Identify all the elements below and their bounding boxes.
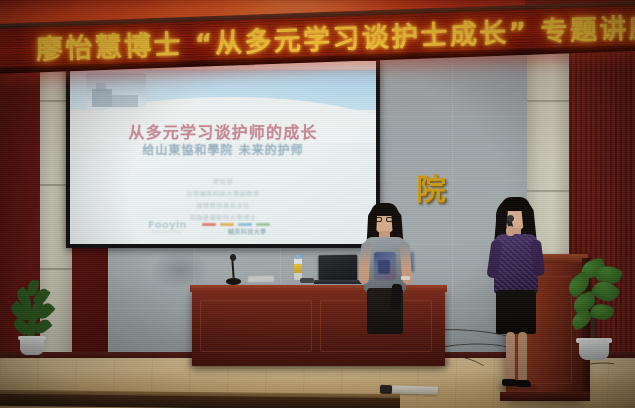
plant-pot: [579, 340, 609, 360]
potted-plant-right: [565, 258, 621, 366]
wall-gold-character-right: 院: [416, 176, 446, 206]
lecture-hall-photo: 山 院 Microsoft PowerPoint - [演讲] 从多元学习谈护师…: [0, 0, 635, 408]
screen-glare: [70, 61, 376, 244]
table-panel: [200, 300, 312, 352]
papers-on-table: [248, 276, 274, 282]
tshirt-print-detail: [378, 260, 390, 274]
wall-stain: [150, 250, 210, 290]
shoe-right: [516, 380, 531, 387]
water-bottle-label: [294, 264, 302, 273]
leg-right: [518, 332, 527, 382]
water-bottle-cap: [295, 255, 301, 259]
microphone-head: [507, 215, 514, 222]
power-plug: [380, 385, 392, 394]
potted-plant-left: [8, 280, 56, 362]
skirt: [496, 290, 536, 334]
laptop-base: [314, 280, 363, 284]
laptop-screen: [319, 255, 358, 282]
plant-pot: [20, 338, 44, 355]
person-host: [358, 200, 414, 360]
wristwatch: [401, 276, 410, 280]
leg-left: [506, 332, 515, 382]
hand: [506, 226, 515, 236]
mouse-pad: [300, 278, 314, 283]
person-speaker: [486, 196, 548, 401]
